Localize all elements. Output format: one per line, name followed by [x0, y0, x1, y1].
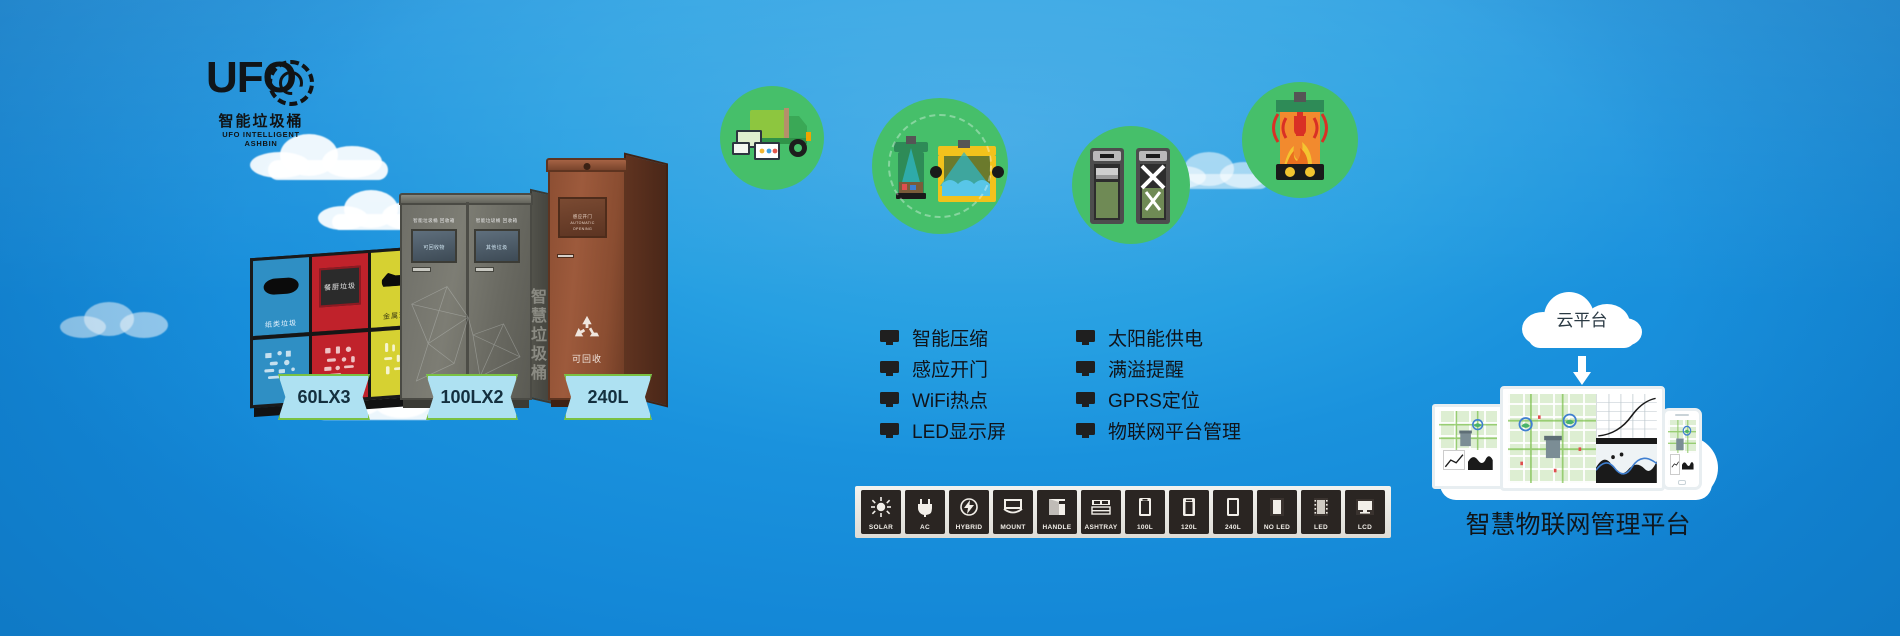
spec-solar: SOLAR	[861, 490, 901, 534]
spec-label: ASHTRAY	[1083, 523, 1120, 532]
platform-caption: 智慧物联网管理平台	[1418, 505, 1738, 541]
lcd-icon	[1345, 490, 1385, 523]
product-smart-double-bin: 智能垃圾桶 回收箱 智能垃圾桶 回收箱 可回收物 其他垃圾 智慧垃圾桶	[400, 200, 532, 400]
polygon-decal-graphic	[407, 280, 525, 390]
product-banner: UFO 智能垃圾桶 UFO INTELLIGENT ASHBIN 纸类垃圾	[0, 0, 1900, 636]
spec-lcd: LCD	[1345, 490, 1385, 534]
recycle-icon	[572, 314, 602, 342]
feature-item: WiFi热点	[880, 384, 1006, 415]
phone-speaker	[1675, 414, 1689, 416]
bin-fill-sensor-icon	[872, 98, 1008, 234]
fire-alarm-bin-icon	[1242, 82, 1358, 198]
hybrid-bolt-icon	[949, 490, 989, 523]
phone-device	[1662, 408, 1702, 490]
spec-label: HANDLE	[1041, 523, 1074, 532]
bin-handle-left	[412, 267, 431, 272]
capacity-ribbon-60lx3: 60LX3	[278, 374, 370, 420]
tablet-map-graphic	[1439, 411, 1497, 450]
map-panel	[1508, 394, 1596, 483]
feature-item: 物联网平台管理	[1076, 415, 1241, 446]
spec-ashtray: ASHTRAY	[1081, 490, 1121, 534]
spec-label: 240L	[1223, 523, 1243, 532]
feature-column-right: 太阳能供电 满溢提醒 GPRS定位 物联网平台管理	[1076, 322, 1241, 446]
capacity-label: 60LX3	[297, 387, 350, 408]
bin-120l-icon	[1169, 490, 1209, 523]
bin-header-left: 智能垃圾桶 回收箱	[411, 218, 457, 224]
spec-label: 100L	[1135, 523, 1155, 532]
no-led-icon	[1257, 490, 1297, 523]
spec-label: LED	[1312, 523, 1330, 532]
spec-label: NO LED	[1262, 523, 1292, 532]
feature-label: 太阳能供电	[1108, 324, 1203, 351]
sun-icon	[861, 490, 901, 523]
cloud-platform-illustration: 云平台	[1430, 300, 1720, 500]
logo-english-name: UFO INTELLIGENT ASHBIN	[206, 130, 316, 148]
feature-label: 物联网平台管理	[1108, 417, 1241, 444]
bin-handle	[557, 254, 573, 258]
product-brown-recycling-bin: 感应开门 AUTOMATIC OPENING 可回收	[548, 168, 626, 400]
feature-circle-fill-sensor	[872, 98, 1008, 234]
spec-240l: 240L	[1213, 490, 1253, 534]
truck-and-devices-icon	[720, 86, 824, 190]
phone-charts	[1670, 454, 1694, 475]
bin-240l-icon	[1213, 490, 1253, 523]
spec-handle: HANDLE	[1037, 490, 1077, 534]
feature-circle-truck	[720, 86, 824, 190]
bin-label-blue: 纸类垃圾	[253, 317, 309, 331]
feature-circle-compression	[1072, 126, 1190, 244]
phone-home-button[interactable]	[1678, 480, 1686, 485]
spec-mount: MOUNT	[993, 490, 1033, 534]
logo-chinese-name: 智能垃圾桶	[206, 110, 316, 131]
tablet-charts	[1443, 450, 1493, 470]
chart-panel	[1596, 394, 1657, 483]
monitor-bullet-icon	[880, 361, 899, 376]
feature-label: GPRS定位	[1108, 386, 1200, 413]
monitor-bullet-icon	[1076, 361, 1095, 376]
spec-label: 120L	[1179, 523, 1199, 532]
cloud-decoration	[60, 300, 180, 340]
tablet-screen	[1439, 411, 1497, 474]
monitor-bullet-icon	[880, 423, 899, 438]
bin-label-red: 餐厨垃圾	[321, 280, 360, 293]
bin-display-screen: 餐厨垃圾	[319, 265, 362, 307]
feature-circle-fire-alarm	[1242, 82, 1358, 198]
ashtray-icon	[1081, 490, 1121, 523]
spec-ac: AC	[905, 490, 945, 534]
capacity-label: 240L	[587, 387, 628, 408]
monitor-bullet-icon	[1076, 330, 1095, 345]
feature-label: 智能压缩	[912, 324, 988, 351]
wall-mount-icon	[993, 490, 1033, 523]
feature-item: 满溢提醒	[1076, 353, 1241, 384]
arrow-down-icon	[1572, 356, 1592, 386]
compression-bins-icon	[1072, 126, 1190, 244]
bin-display-right-text: 其他垃圾	[476, 244, 518, 251]
feature-item: 智能压缩	[880, 322, 1006, 353]
bin-display-window: 感应开门 AUTOMATIC OPENING	[558, 197, 607, 238]
map-routes-graphic	[1508, 394, 1596, 483]
monitor-bullet-icon	[1076, 423, 1095, 438]
tablet-device	[1432, 404, 1504, 489]
handle-icon	[1037, 490, 1077, 523]
spec-label: MOUNT	[998, 523, 1027, 532]
bin-header-right: 智能垃圾桶 回收箱	[474, 218, 520, 224]
plug-icon	[905, 490, 945, 523]
feature-label: LED显示屏	[912, 417, 1006, 444]
bin-display-left-text: 可回收物	[413, 244, 455, 251]
spec-label: SOLAR	[867, 523, 895, 532]
line-chart-graphic	[1597, 394, 1657, 438]
specification-icon-strip: SOLAR AC HYBRID MOUNT	[855, 486, 1391, 538]
feature-label: WiFi热点	[912, 386, 988, 413]
spec-label: LCD	[1356, 523, 1374, 532]
capacity-label: 100LX2	[440, 387, 503, 408]
feature-item: 感应开门	[880, 353, 1006, 384]
cloud-platform-label: 云平台	[1522, 306, 1642, 331]
bin-handle-right	[475, 267, 494, 272]
capacity-ribbon-240l: 240L	[564, 374, 652, 420]
monitor-bullet-icon	[880, 330, 899, 345]
bin-100l-icon	[1125, 490, 1165, 523]
area-chart-graphic	[1596, 444, 1657, 483]
feature-column-left: 智能压缩 感应开门 WiFi热点 LED显示屏	[880, 322, 1006, 446]
brand-logo: UFO 智能垃圾桶 UFO INTELLIGENT ASHBIN	[206, 56, 316, 152]
bin-vertical-brand-text: 智慧垃圾桶	[524, 288, 548, 383]
feature-item: 太阳能供电	[1076, 322, 1241, 353]
desktop-monitor	[1500, 386, 1665, 491]
spec-120l: 120L	[1169, 490, 1209, 534]
feature-label: 感应开门	[912, 355, 988, 382]
monitor-screen	[1508, 394, 1657, 483]
monitor-bullet-icon	[1076, 392, 1095, 407]
spec-label: AC	[918, 523, 932, 532]
capacity-ribbon-100lx2: 100LX2	[426, 374, 518, 420]
spec-no-led: NO LED	[1257, 490, 1297, 534]
phone-map-graphic	[1668, 420, 1696, 453]
spec-hybrid: HYBRID	[949, 490, 989, 534]
feature-label: 满溢提醒	[1108, 355, 1184, 382]
feature-item: GPRS定位	[1076, 384, 1241, 415]
bin-display-left: 可回收物	[411, 229, 457, 262]
spec-100l: 100L	[1125, 490, 1165, 534]
monitor-stand	[1555, 491, 1610, 500]
monitor-bullet-icon	[880, 392, 899, 407]
ufo-ring-icon	[268, 60, 314, 106]
led-icon	[1301, 490, 1341, 523]
phone-screen	[1668, 420, 1696, 477]
bin-recycle-label: 可回收	[550, 352, 624, 365]
spec-led: LED	[1301, 490, 1341, 534]
feature-item: LED显示屏	[880, 415, 1006, 446]
bin-display-text: 感应开门 AUTOMATIC OPENING	[560, 214, 605, 232]
waste-slot-icon	[264, 277, 299, 295]
sensor-dot-icon	[584, 163, 591, 170]
bin-display-right: 其他垃圾	[474, 229, 520, 262]
spec-label: HYBRID	[954, 523, 985, 532]
bin-side-panel	[624, 153, 668, 408]
